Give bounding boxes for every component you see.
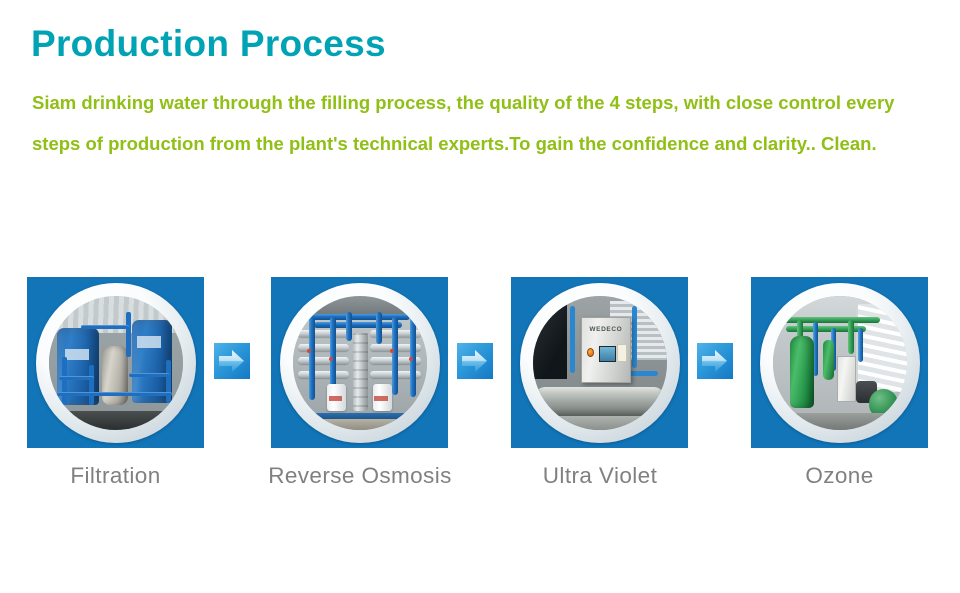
panel-brand-label: WEDECO bbox=[582, 326, 630, 333]
process-step-card-ultra-violet[interactable]: WEDECO bbox=[511, 277, 688, 448]
wedeco-control-panel: WEDECO bbox=[581, 317, 631, 383]
step-label-reverse-osmosis: Reverse Osmosis bbox=[255, 460, 465, 492]
process-step-card-filtration[interactable] bbox=[27, 277, 204, 448]
step-label-ultra-violet: Ultra Violet bbox=[505, 460, 695, 492]
photo-ring bbox=[760, 283, 920, 443]
arrow-right-icon bbox=[697, 343, 733, 379]
arrow-right-icon bbox=[214, 343, 250, 379]
photo-ring bbox=[280, 283, 440, 443]
page-title: Production Process bbox=[31, 24, 386, 65]
process-step-card-reverse-osmosis[interactable] bbox=[271, 277, 448, 448]
process-step-card-ozone[interactable] bbox=[751, 277, 928, 448]
photo-ring bbox=[36, 283, 196, 443]
step-image-filtration bbox=[49, 296, 183, 430]
intro-paragraph: Siam drinking water through the filling … bbox=[32, 82, 932, 164]
step-label-filtration: Filtration bbox=[27, 460, 204, 492]
step-image-ozone bbox=[773, 296, 907, 430]
arrow-right-icon bbox=[457, 343, 493, 379]
step-image-ultra-violet: WEDECO bbox=[533, 296, 667, 430]
photo-ring: WEDECO bbox=[520, 283, 680, 443]
process-step-row: WEDECO bbox=[0, 277, 960, 452]
step-image-reverse-osmosis bbox=[293, 296, 427, 430]
step-label-ozone: Ozone bbox=[751, 460, 928, 492]
